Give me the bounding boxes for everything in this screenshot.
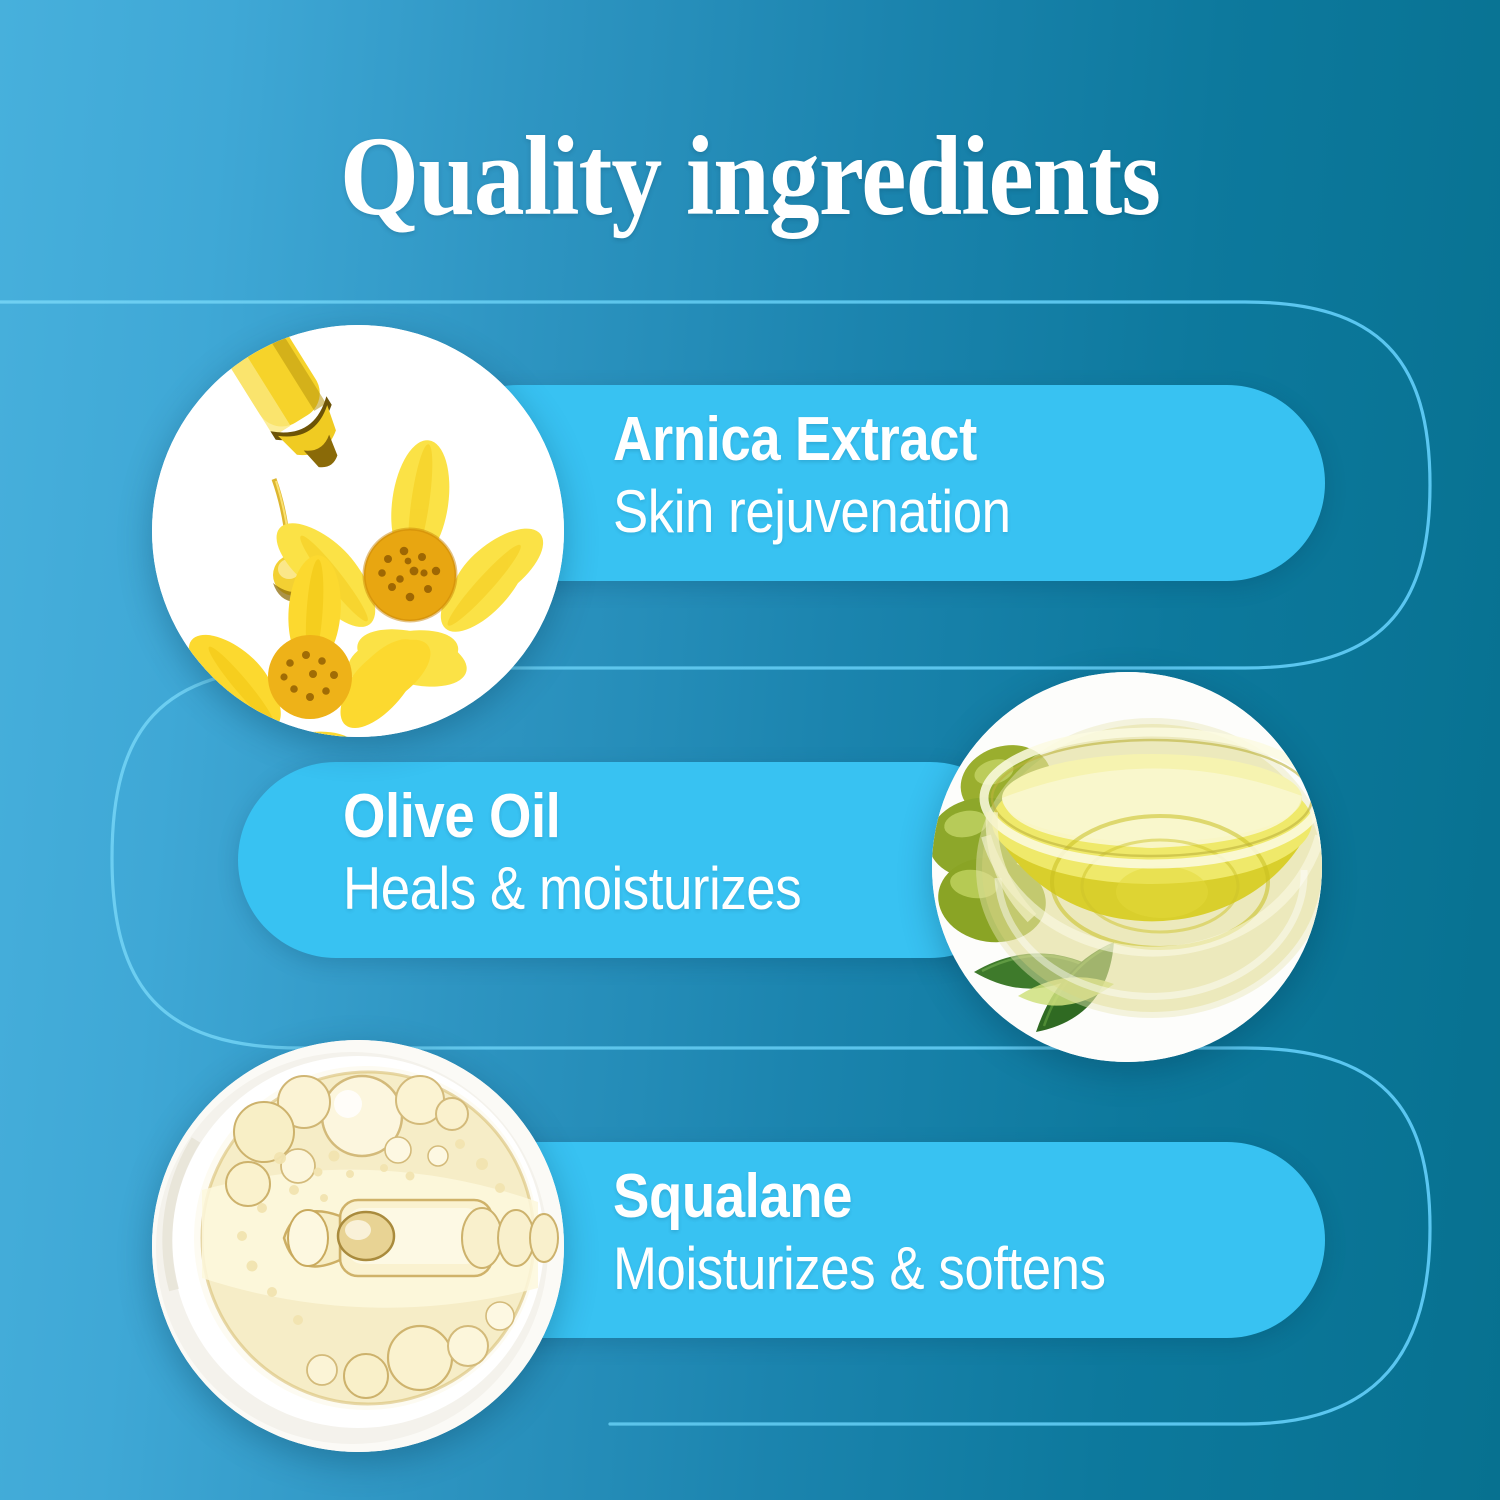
ingredient-benefit-squalane: Moisturizes & softens	[613, 1237, 1106, 1302]
page-title: Quality ingredients	[75, 116, 1425, 238]
ingredient-name-squalane: Squalane	[613, 1166, 1106, 1228]
squalane-dish-photo	[152, 1040, 564, 1452]
ingredient-benefit-olive-oil: Heals & moisturizes	[343, 857, 801, 922]
arnica-flower-dropper-photo	[152, 325, 564, 737]
ingredient-name-olive-oil: Olive Oil	[343, 786, 801, 848]
ingredient-label-group-olive-oil: Olive Oil Heals & moisturizes	[343, 786, 864, 922]
ingredient-benefit-arnica-extract: Skin rejuvenation	[613, 480, 1011, 545]
quality-ingredients-infographic: Quality ingredients Arnica Extract Skin …	[0, 0, 1500, 1500]
olive-oil-bowl-photo	[932, 672, 1322, 1062]
ingredient-label-group-squalane: Squalane Moisturizes & softens	[613, 1166, 1173, 1302]
ingredient-name-arnica-extract: Arnica Extract	[613, 409, 1011, 471]
ingredient-label-group-arnica-extract: Arnica Extract Skin rejuvenation	[613, 409, 1065, 545]
